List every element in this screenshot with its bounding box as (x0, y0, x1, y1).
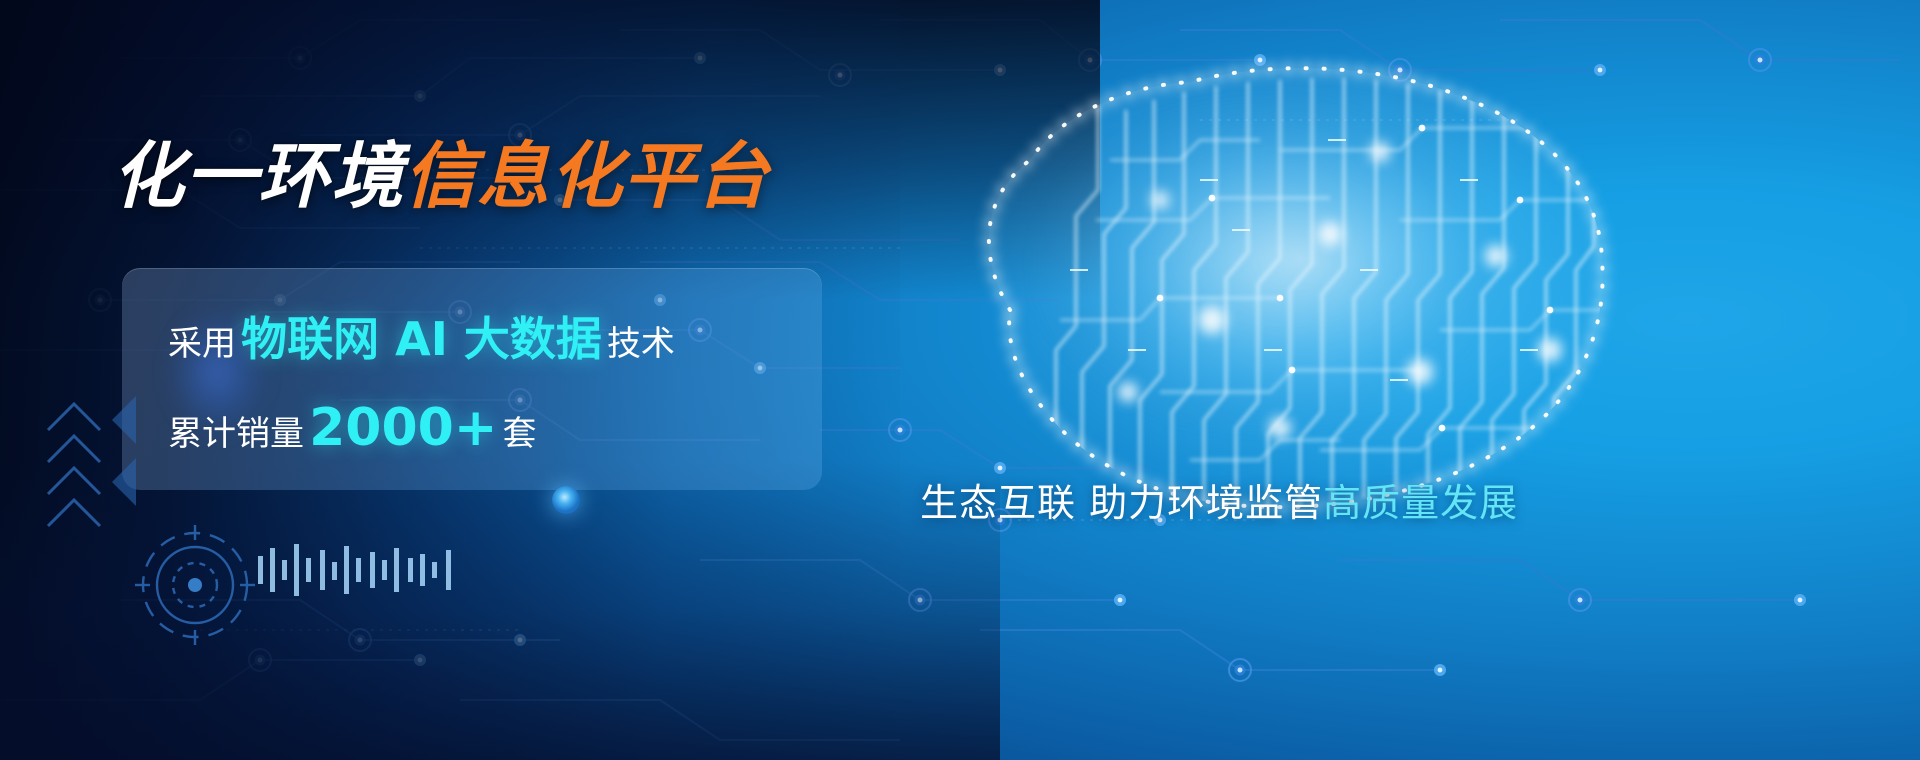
line1-suffix: 技术 (607, 324, 675, 364)
glow-dot-icon (552, 486, 580, 514)
line2-highlight: 2000+ (309, 398, 497, 458)
info-card-line-2: 累计销量 2000+ 套 (168, 402, 536, 454)
info-card-line-1: 采用 物联网 AI 大数据 技术 (168, 316, 675, 362)
info-card: 采用 物联网 AI 大数据 技术 累计销量 2000+ 套 (122, 268, 822, 490)
banner-root: 化一环境信息化平台 采用 物联网 AI 大数据 技术 累计销量 2000+ 套 … (0, 0, 1920, 760)
data-bars-icon (258, 540, 468, 605)
tagline-cyan: 高质量发展 (1323, 481, 1518, 525)
circuit-brain-icon (860, 20, 1620, 540)
page-title-white: 化一环境 (112, 134, 404, 218)
line2-suffix: 套 (502, 414, 536, 454)
hud-ring-icon (130, 520, 260, 655)
bottom-vignette (0, 460, 1000, 760)
line1-prefix: 采用 (168, 324, 236, 364)
line2-prefix: 累计销量 (168, 414, 304, 454)
line1-highlight: 物联网 AI 大数据 (241, 312, 602, 366)
tagline: 生态互联 助力环境监管高质量发展 (920, 484, 1518, 522)
tagline-white: 生态互联 助力环境监管 (920, 481, 1323, 525)
page-title: 化一环境信息化平台 (112, 140, 769, 212)
page-title-orange: 信息化平台 (404, 134, 769, 218)
brain-glow (940, 40, 1560, 510)
